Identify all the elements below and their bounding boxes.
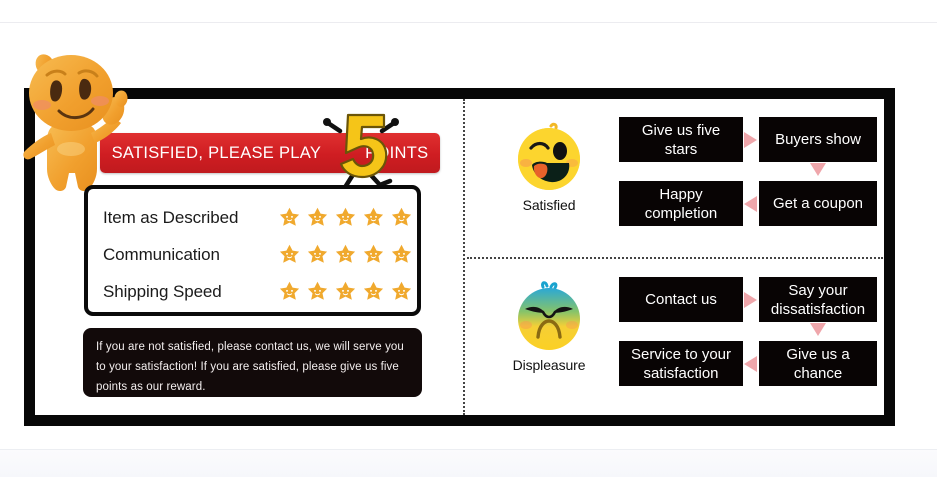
star-rating — [278, 206, 413, 229]
feedback-banner-page: SATISFIED, PLEASE PLAYPOINTS — [0, 0, 937, 477]
rating-label: Shipping Speed — [103, 282, 278, 302]
top-divider — [0, 22, 937, 23]
arrow-down-icon — [810, 323, 826, 336]
star-icon — [334, 243, 357, 266]
star-icon — [278, 243, 301, 266]
winking-happy-face-icon — [513, 121, 585, 193]
displeasure-step-2: Say your dissatisfaction — [759, 277, 877, 322]
star-icon — [306, 206, 329, 229]
arrow-left-icon — [744, 196, 757, 212]
headline-text-after: POINTS — [365, 144, 428, 162]
star-icon — [390, 206, 413, 229]
left-pane: SATISFIED, PLEASE PLAYPOINTS — [35, 99, 459, 415]
rating-label: Item as Described — [103, 208, 278, 228]
arrow-right-icon — [744, 132, 757, 148]
satisfied-step-3: Get a coupon — [759, 181, 877, 226]
rating-card: Item as Described Communication — [84, 185, 421, 316]
rating-label: Communication — [103, 245, 278, 265]
satisfaction-note-text: If you are not satisfied, please contact… — [96, 337, 409, 397]
star-icon — [306, 243, 329, 266]
satisfied-face-group: Satisfied — [497, 121, 601, 213]
star-icon — [362, 206, 385, 229]
displeasure-flow: Displeasure Contact us Say your dissatis… — [467, 259, 887, 417]
arrow-left-icon — [744, 356, 757, 372]
star-icon — [390, 280, 413, 303]
bottom-gradient-band — [0, 450, 937, 477]
rating-row: Item as Described — [88, 199, 417, 236]
satisfied-step-1: Give us five stars — [619, 117, 743, 162]
star-rating — [278, 243, 413, 266]
star-rating — [278, 280, 413, 303]
star-icon — [390, 243, 413, 266]
displeasure-step-3: Give us a chance — [759, 341, 877, 386]
displeasure-face-label: Displeasure — [513, 357, 586, 373]
rating-row: Communication — [88, 236, 417, 273]
star-icon — [278, 206, 301, 229]
displeasure-step-1: Contact us — [619, 277, 743, 322]
star-icon — [362, 280, 385, 303]
satisfied-step-4: Happy completion — [619, 181, 743, 226]
star-icon — [334, 206, 357, 229]
displeasure-step-4: Service to your satisfaction — [619, 341, 743, 386]
satisfaction-note-box: If you are not satisfied, please contact… — [83, 328, 422, 397]
displeasure-face-group: Displeasure — [497, 281, 601, 373]
star-icon — [362, 243, 385, 266]
vertical-dotted-divider — [463, 99, 465, 415]
satisfied-headline-banner: SATISFIED, PLEASE PLAYPOINTS — [100, 133, 440, 173]
arrow-right-icon — [744, 292, 757, 308]
headline-text-before: SATISFIED, PLEASE PLAY — [112, 144, 322, 162]
star-icon — [306, 280, 329, 303]
arrow-down-icon — [810, 163, 826, 176]
satisfied-step-2: Buyers show — [759, 117, 877, 162]
star-icon — [334, 280, 357, 303]
satisfied-face-label: Satisfied — [523, 197, 576, 213]
thumbs-up-mascot-icon — [11, 37, 131, 197]
main-framed-banner: SATISFIED, PLEASE PLAYPOINTS — [24, 88, 895, 426]
headline-text: SATISFIED, PLEASE PLAYPOINTS — [112, 144, 429, 163]
rating-row: Shipping Speed — [88, 273, 417, 310]
satisfied-flow: Satisfied Give us five stars Buyers show… — [467, 99, 887, 257]
angry-face-icon — [513, 281, 585, 353]
star-icon — [278, 280, 301, 303]
